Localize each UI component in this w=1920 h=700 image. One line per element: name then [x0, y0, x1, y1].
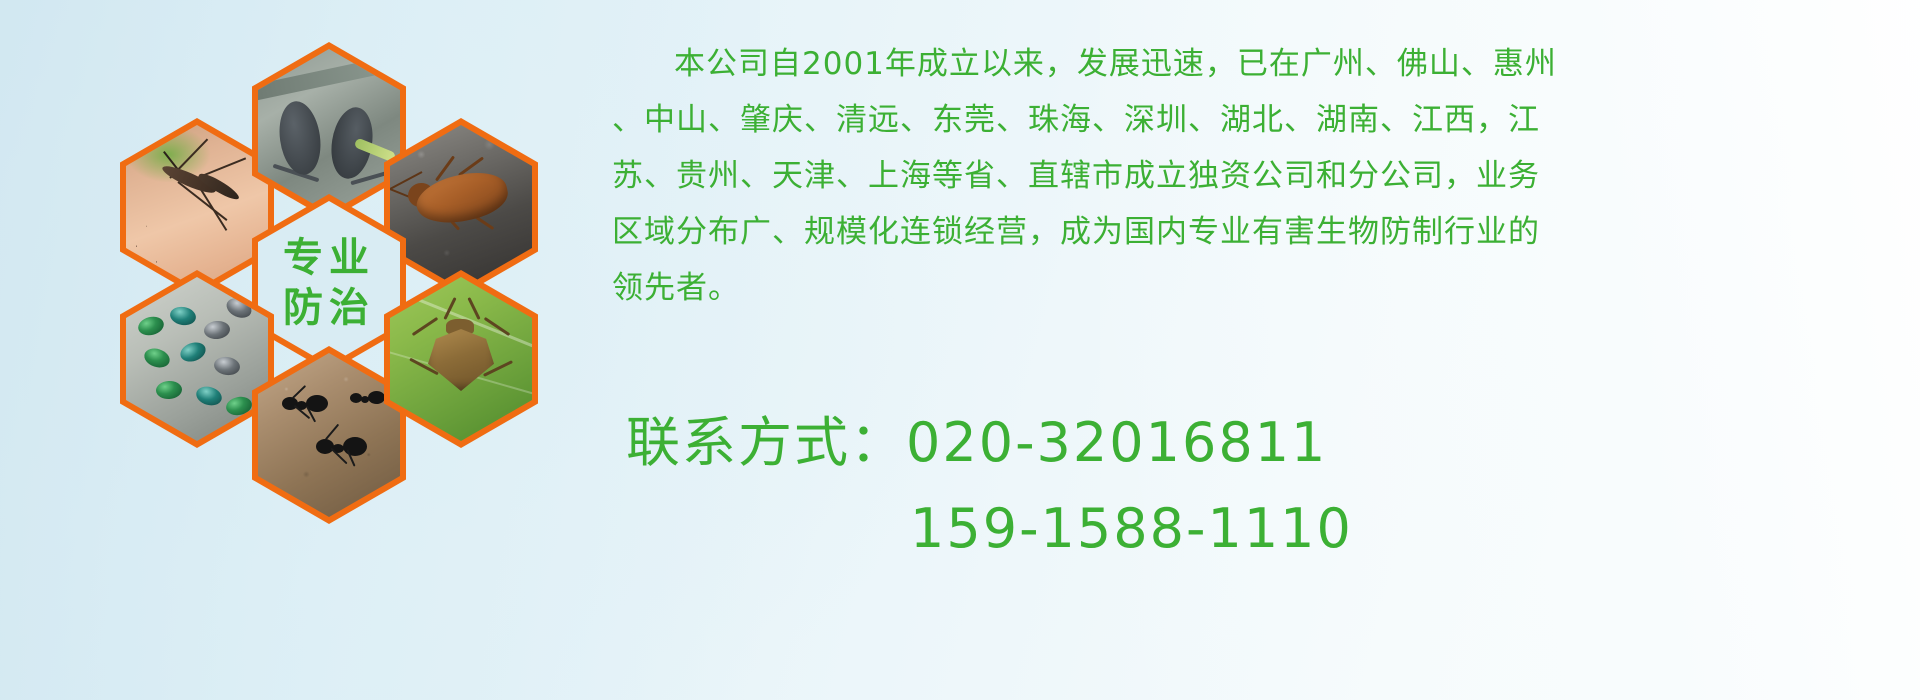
hex-label-line2: 防治	[283, 283, 375, 333]
paragraph-line-2: 、中山、肇庆、清远、东莞、珠海、深圳、湖北、湖南、江西，江	[612, 92, 1902, 148]
contact-mobile[interactable]: 159-1588-1110	[612, 486, 1902, 572]
hex-cell-flies[interactable]	[120, 270, 274, 448]
company-intro-paragraph: 本公司自2001年成立以来，发展迅速，已在广州、佛山、惠州 、中山、肇庆、清远、…	[612, 36, 1902, 316]
hex-label-line1: 专业	[283, 233, 375, 283]
ants-photo	[258, 353, 400, 517]
contact-landline[interactable]: 联系方式：020-32016811	[612, 400, 1902, 486]
hex-cell-mosquito[interactable]	[120, 118, 274, 296]
stink-bug-photo	[390, 277, 532, 441]
paragraph-line-3: 苏、贵州、天津、上海等省、直辖市成立独资公司和分公司，业务	[612, 148, 1902, 204]
hexagon-photo-collage: 专业 防治	[90, 10, 610, 570]
rats-photo	[258, 49, 400, 213]
mosquito-photo	[126, 125, 268, 289]
hex-cell-ants[interactable]	[252, 346, 406, 524]
paragraph-line-5: 领先者。	[612, 260, 1902, 316]
flies-photo	[126, 277, 268, 441]
paragraph-line-4: 区域分布广、规模化连锁经营，成为国内专业有害生物防制行业的	[612, 204, 1902, 260]
hex-cell-cockroach[interactable]	[384, 118, 538, 296]
contact-block: 联系方式：020-32016811 159-1588-1110	[612, 400, 1902, 572]
hex-cell-rats[interactable]	[252, 42, 406, 220]
hex-cell-center-label: 专业 防治	[252, 194, 406, 372]
cockroach-photo	[390, 125, 532, 289]
promo-banner: 专业 防治	[0, 0, 1920, 700]
paragraph-line-1: 本公司自2001年成立以来，发展迅速，已在广州、佛山、惠州	[612, 36, 1902, 92]
hex-cell-stink-bug[interactable]	[384, 270, 538, 448]
